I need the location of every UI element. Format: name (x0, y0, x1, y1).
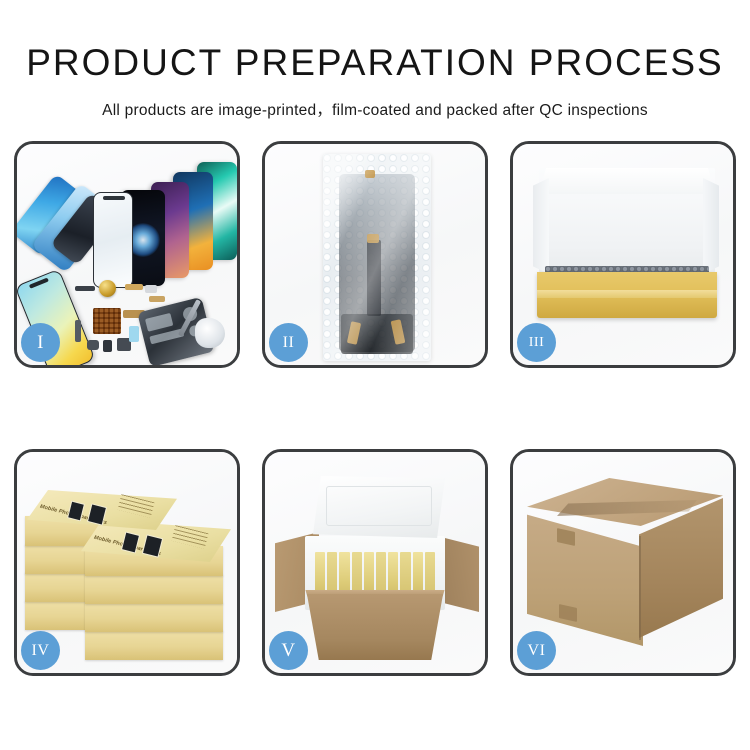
bubble-wrap-bag (323, 154, 431, 361)
flex-cable-icon (75, 320, 81, 342)
retail-box-icon (85, 630, 223, 660)
carton-with-foam-insert (275, 470, 479, 662)
step-badge-2: II (269, 323, 308, 362)
page-subtitle: All products are image-printed，film-coat… (0, 98, 750, 120)
steps-grid: I II (14, 141, 736, 676)
box-lid-flap-left (533, 178, 549, 274)
carton-front-face (301, 594, 449, 660)
tempered-glass-icon (93, 192, 133, 288)
step-panel-1[interactable]: I (14, 141, 240, 368)
step-panel-4[interactable]: Mobile Phone Spare Parts Mobile Phone Sp… (14, 449, 240, 676)
coil-part-icon (99, 280, 116, 297)
foam-lid-icon (313, 476, 445, 538)
gold-contact-icon (365, 170, 375, 178)
spare-part-icon (125, 284, 143, 290)
carton-left-face (527, 512, 643, 646)
open-flat-box (525, 168, 725, 338)
step-badge-6: VI (517, 631, 556, 670)
spare-part-icon (129, 326, 139, 342)
product-preparation-process-infographic: PRODUCT PREPARATION PROCESS All products… (0, 0, 750, 750)
step-badge-3: III (517, 323, 556, 362)
gold-contact-icon (367, 234, 379, 243)
mesh-grid-part-icon (93, 308, 121, 334)
step-badge-5: V (269, 631, 308, 670)
steps-row-2: Mobile Phone Spare Parts Mobile Phone Sp… (14, 449, 736, 676)
carton-vertical-edge (639, 536, 641, 640)
flex-cable-icon (149, 296, 165, 302)
step-panel-3[interactable]: III (510, 141, 736, 368)
screwdriver-icon (185, 294, 231, 352)
page-title: PRODUCT PREPARATION PROCESS (0, 44, 750, 81)
spare-part-icon (103, 340, 112, 352)
header: PRODUCT PREPARATION PROCESS All products… (0, 0, 750, 120)
box-tray-edge (537, 290, 717, 298)
spare-part-icon (145, 285, 157, 293)
step-panel-6[interactable]: VI (510, 449, 736, 676)
steps-row-1: I II (14, 141, 736, 368)
step-badge-4: IV (21, 631, 60, 670)
spare-part-icon (87, 340, 99, 350)
retail-box-icon (85, 602, 223, 632)
spare-part-icon (75, 286, 95, 291)
step-panel-2[interactable]: II (262, 141, 488, 368)
step-panel-5[interactable]: V (262, 449, 488, 676)
flex-cable-icon (367, 240, 381, 316)
box-lid-flap-right (703, 178, 719, 274)
step-badge-1: I (21, 323, 60, 362)
box-lid-top-edge (539, 168, 715, 194)
phone-fan-group (89, 160, 237, 282)
sealed-shipping-carton (527, 478, 723, 650)
retail-box-icon (85, 574, 223, 604)
